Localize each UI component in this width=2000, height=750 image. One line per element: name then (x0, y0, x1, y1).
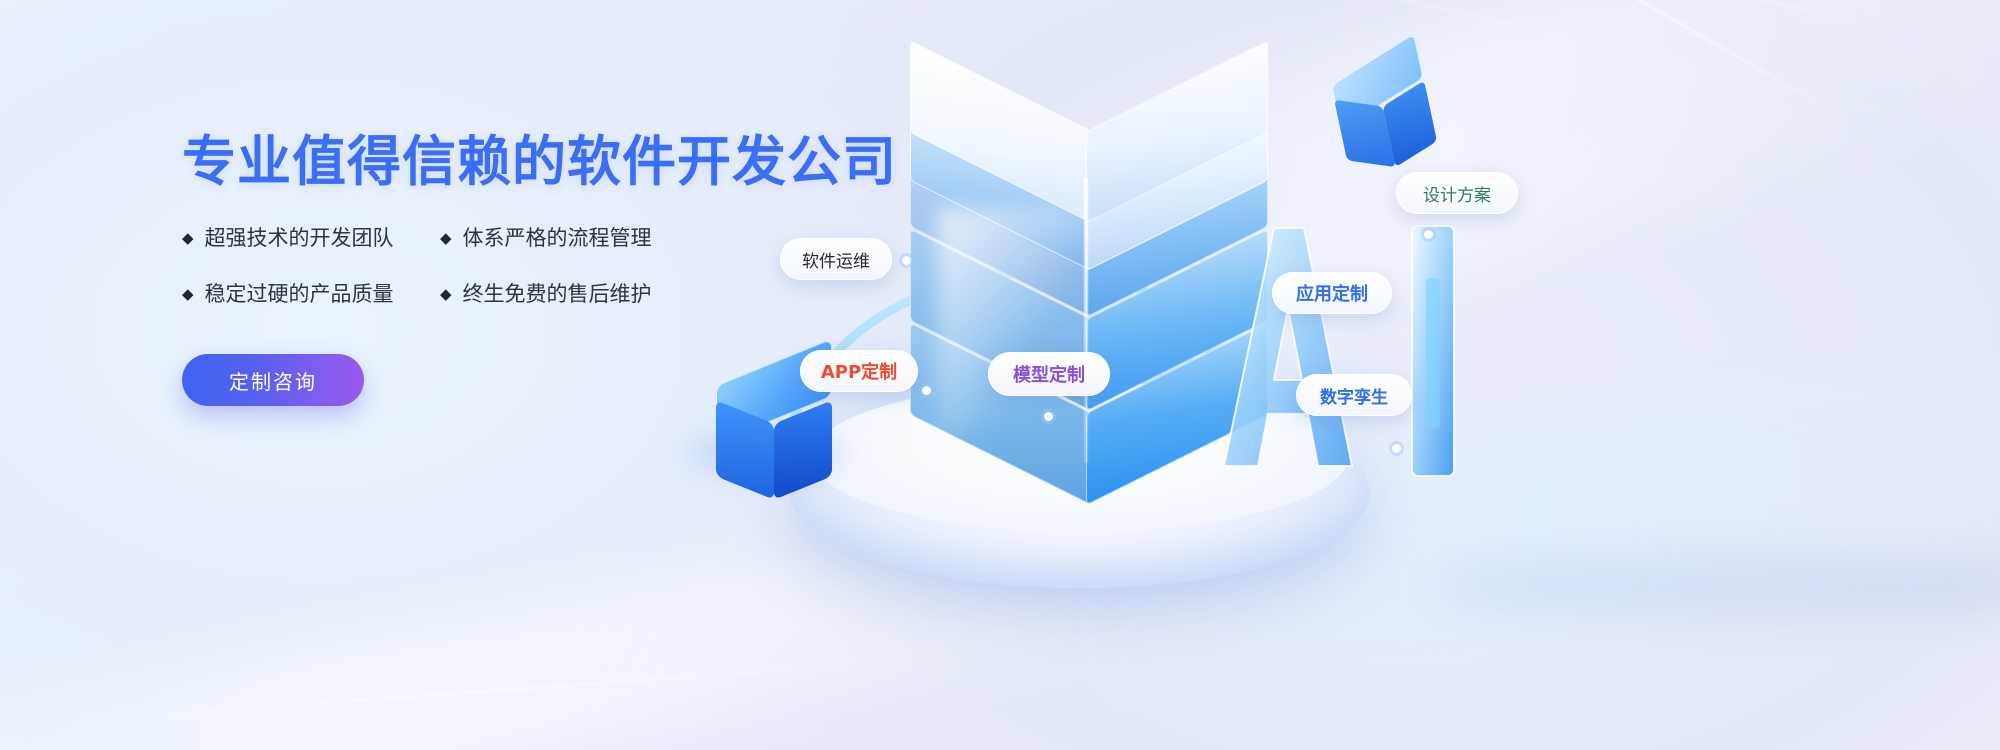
chip-app-custom[interactable]: APP定制 (800, 350, 918, 392)
diamond-bullet-icon: ◆ (182, 287, 194, 302)
diamond-bullet-icon: ◆ (440, 287, 452, 302)
custom-consult-button[interactable]: 定制咨询 (182, 354, 364, 406)
chip-app-customization[interactable]: 应用定制 (1272, 272, 1392, 314)
list-item-label: 终生免费的售后维护 (463, 278, 652, 308)
list-item: ◆ 超强技术的开发团队 (182, 222, 440, 252)
chip-digital-twin[interactable]: 数字孪生 (1296, 374, 1412, 416)
diamond-bullet-icon: ◆ (182, 231, 194, 246)
connector-dot (1424, 230, 1433, 239)
connector-dot (902, 256, 911, 265)
connector-dot (922, 386, 931, 395)
list-item-label: 体系严格的流程管理 (463, 222, 652, 252)
chip-software-ops[interactable]: 软件运维 (780, 238, 892, 280)
chip-model-customization[interactable]: 模型定制 (988, 352, 1110, 396)
cube-edge-highlight (1084, 178, 1088, 463)
hero-banner: 专业值得信赖的软件开发公司 ◆ 超强技术的开发团队 ◆ 体系严格的流程管理 ◆ … (0, 0, 2000, 750)
connector-dot (1392, 444, 1401, 453)
connector-dot (1044, 412, 1053, 421)
list-item-label: 超强技术的开发团队 (205, 222, 394, 252)
list-item-label: 稳定过硬的产品质量 (205, 278, 394, 308)
cube-top-face (908, 88, 1268, 260)
glass-letter-a (1218, 222, 1358, 472)
diamond-bullet-icon: ◆ (440, 231, 452, 246)
chip-design-plan[interactable]: 设计方案 (1396, 172, 1518, 214)
list-item: ◆ 稳定过硬的产品质量 (182, 278, 440, 308)
floating-mini-cube (1320, 48, 1449, 178)
floor-shadow (1430, 556, 2000, 616)
glass-rubik-cube (908, 88, 1268, 488)
glass-letter-i (1382, 222, 1484, 480)
